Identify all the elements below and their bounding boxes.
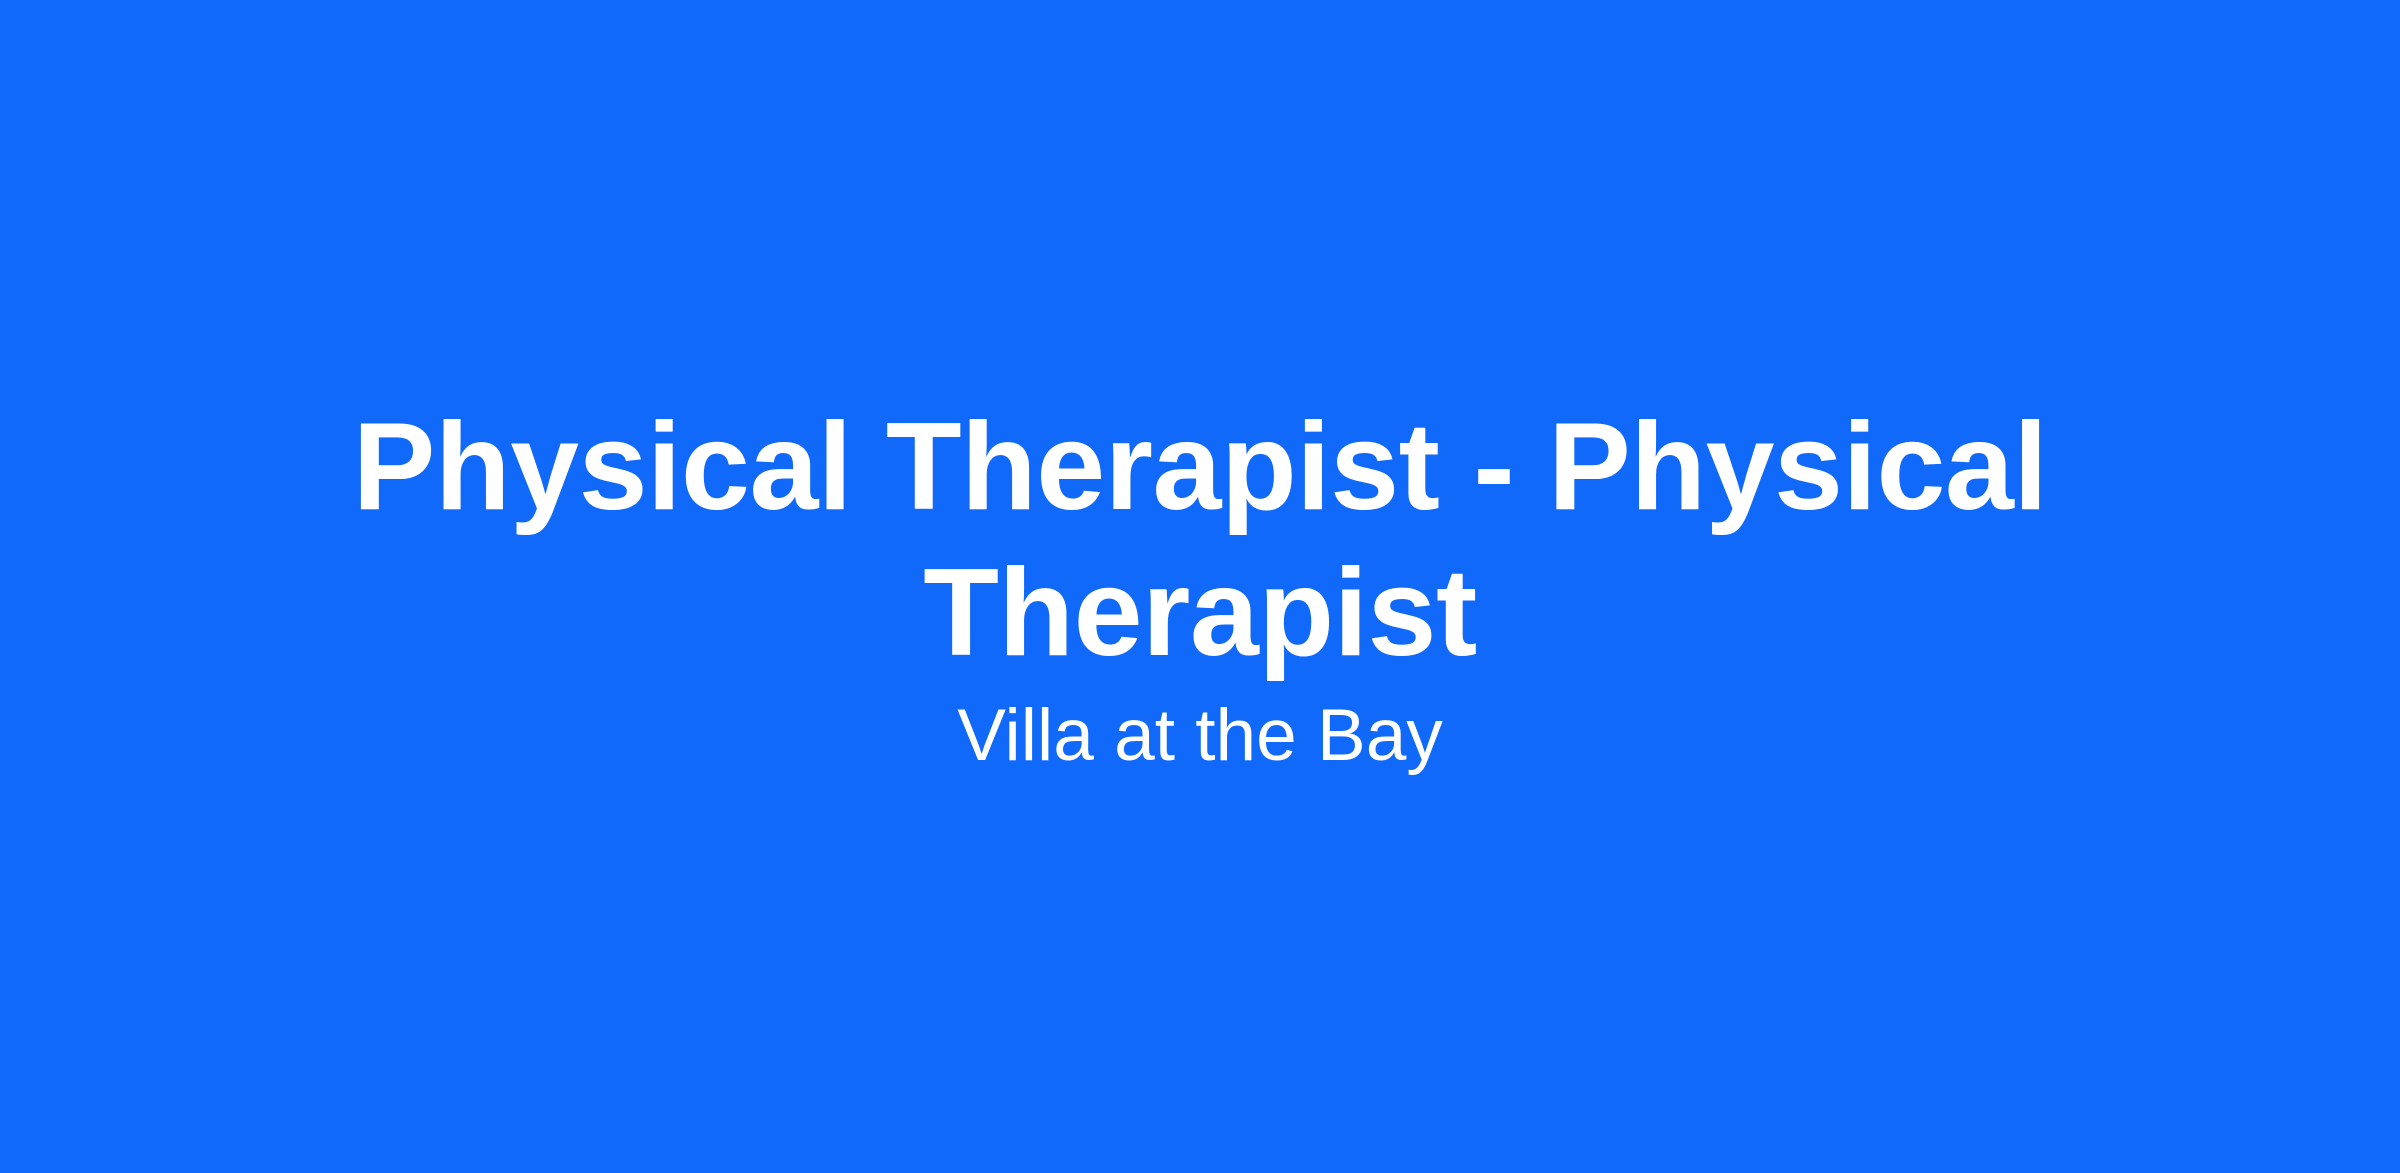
page-subtitle: Villa at the Bay	[340, 693, 2060, 779]
page-title: Physical Therapist - Physical Therapist	[340, 394, 2060, 688]
hero-banner: Physical Therapist - Physical Therapist …	[0, 0, 2400, 1173]
hero-content: Physical Therapist - Physical Therapist …	[340, 394, 2060, 780]
